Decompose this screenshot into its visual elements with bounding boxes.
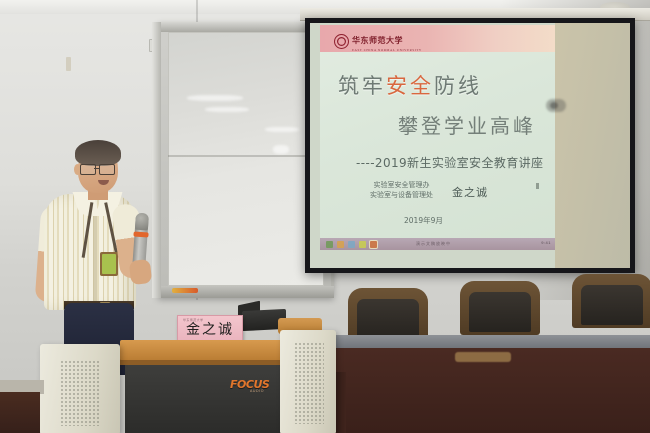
table-scuff-mark bbox=[455, 352, 511, 362]
explorer-icon[interactable] bbox=[337, 241, 344, 248]
org-line-1: 实验室安全管理办 bbox=[370, 180, 433, 190]
speaker-cabinet-left bbox=[40, 344, 120, 433]
chair-pad bbox=[357, 299, 419, 339]
shirt-placket bbox=[93, 210, 97, 306]
nameplate: 华东师范大学 金之诚 bbox=[177, 315, 243, 342]
hand-holding-microphone bbox=[129, 259, 152, 285]
org-line-2: 实验室与设备管理处 bbox=[370, 190, 433, 200]
lectern-body bbox=[125, 365, 293, 433]
slide-presenter-name: 金之诚 bbox=[452, 184, 488, 200]
taskbar-clock: 9:41 bbox=[541, 240, 551, 245]
presentation-slide: 华东师范大学 EAST CHINA NORMAL UNIVERSITY 筑牢安全… bbox=[320, 25, 555, 250]
powerpoint-icon[interactable] bbox=[370, 241, 377, 248]
slide-date: 2019年9月 bbox=[404, 215, 443, 226]
whiteboard-marker[interactable] bbox=[172, 288, 198, 293]
title-part-2: 防线 bbox=[434, 74, 482, 98]
slide-subtitle: ----2019新生实验室安全教育讲座 bbox=[356, 154, 543, 171]
slide-title-line-1: 筑牢安全防线 bbox=[338, 70, 482, 100]
speaker-grille bbox=[294, 342, 324, 424]
title-part-1: 筑牢 bbox=[338, 74, 386, 98]
slide-body: 筑牢安全防线 攀登学业高峰 ----2019新生实验室安全教育讲座 实验室安全管… bbox=[320, 52, 555, 250]
seal-circle-icon bbox=[334, 34, 349, 49]
wall-mark bbox=[66, 57, 71, 71]
whiteboard-panel[interactable] bbox=[168, 32, 324, 286]
media-icon[interactable] bbox=[359, 241, 366, 248]
chair[interactable] bbox=[572, 274, 650, 336]
nameplate-small-text: 华东师范大学 bbox=[183, 318, 203, 322]
university-logo: 华东师范大学 EAST CHINA NORMAL UNIVERSITY bbox=[334, 30, 422, 52]
chair-pad bbox=[469, 292, 531, 332]
hair bbox=[75, 140, 121, 166]
photo-scene: 华东师范大学 EAST CHINA NORMAL UNIVERSITY 筑牢安全… bbox=[0, 0, 650, 433]
logo-chinese-name: 华东师范大学 bbox=[352, 36, 403, 45]
lens-left bbox=[80, 164, 96, 175]
screen-glare-shade bbox=[555, 23, 630, 268]
speaker-cabinet-right bbox=[280, 330, 336, 433]
id-badge bbox=[100, 252, 118, 276]
screen-hook-icon bbox=[546, 99, 566, 112]
taskbar-window-title: 演示文稿放映中 bbox=[416, 241, 451, 247]
slide-organization: 实验室安全管理办 实验室与设备管理处 bbox=[370, 180, 433, 200]
whiteboard-divider bbox=[168, 155, 324, 157]
whiteboard-glare bbox=[187, 95, 243, 101]
focus-brand-sub: AUDIO bbox=[250, 389, 264, 393]
lectern-top bbox=[120, 340, 298, 361]
desktop-taskbar[interactable]: 演示文稿放映中 9:41 bbox=[320, 238, 555, 250]
browser-icon[interactable] bbox=[348, 241, 355, 248]
whiteboard-glare bbox=[205, 107, 249, 112]
speaker-grille bbox=[60, 360, 100, 426]
microphone-head bbox=[135, 213, 149, 231]
id-badge-card bbox=[102, 254, 116, 274]
whiteboard-glare bbox=[265, 127, 299, 132]
slide-header-band: 华东师范大学 EAST CHINA NORMAL UNIVERSITY bbox=[320, 25, 555, 52]
whiteboard-glare bbox=[273, 145, 289, 154]
side-furniture-panel bbox=[0, 392, 40, 433]
projection-screen: 华东师范大学 EAST CHINA NORMAL UNIVERSITY 筑牢安全… bbox=[305, 18, 635, 273]
conference-table-top bbox=[330, 335, 650, 349]
title-highlight: 安全 bbox=[386, 74, 434, 98]
chair[interactable] bbox=[460, 281, 540, 343]
chair-pad bbox=[581, 285, 643, 325]
microphone-ring bbox=[133, 232, 148, 238]
lens-right bbox=[99, 164, 115, 175]
screen-surface: 华东师范大学 EAST CHINA NORMAL UNIVERSITY 筑牢安全… bbox=[310, 23, 630, 268]
mouse-cursor-icon bbox=[536, 183, 539, 189]
slide-title-line-2: 攀登学业高峰 bbox=[398, 110, 536, 139]
start-icon[interactable] bbox=[326, 241, 333, 248]
eyeglasses-icon bbox=[80, 164, 117, 173]
